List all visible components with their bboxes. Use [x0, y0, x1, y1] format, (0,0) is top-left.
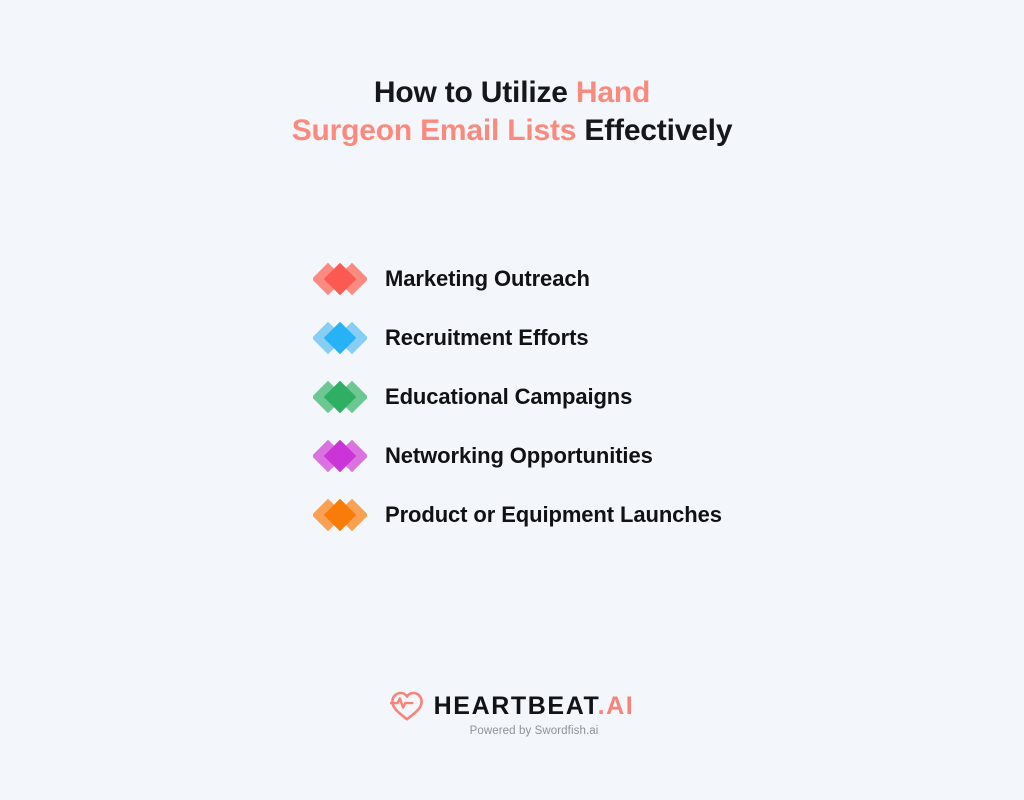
brand-name-suffix: .AI	[598, 692, 635, 720]
footer-branding: HEARTBEAT.AI Powered by Swordfish.ai	[0, 690, 1024, 737]
list-item-label: Product or Equipment Launches	[385, 501, 722, 529]
page-title-line-1: How to Utilize Hand	[0, 74, 1024, 112]
brand-name-main: HEARTBEAT	[434, 692, 598, 720]
list-item-label: Educational Campaigns	[385, 383, 632, 411]
diamond-cluster-icon-blue	[313, 317, 367, 359]
benefits-list: Marketing Outreach Recruitment Efforts E…	[313, 258, 722, 553]
diamond-cluster-icon-purple	[313, 435, 367, 477]
list-item: Educational Campaigns	[313, 376, 722, 418]
list-item: Recruitment Efforts	[313, 317, 722, 359]
list-item: Networking Opportunities	[313, 435, 722, 477]
page-title-line-2-plain: Effectively	[576, 114, 732, 147]
powered-by-text: Powered by Swordfish.ai	[470, 725, 599, 737]
list-item-label: Networking Opportunities	[385, 442, 653, 470]
diamond-cluster-icon-orange	[313, 494, 367, 536]
logo-row: HEARTBEAT.AI	[390, 690, 635, 722]
page-title-line-2: Surgeon Email Lists Effectively	[0, 112, 1024, 150]
heartbeat-pulse-icon	[390, 690, 434, 722]
diamond-cluster-icon-green	[313, 376, 367, 418]
list-item: Product or Equipment Launches	[313, 494, 722, 536]
list-item: Marketing Outreach	[313, 258, 722, 300]
brand-name: HEARTBEAT.AI	[434, 691, 635, 721]
page-title-line-1-accent: Hand	[576, 76, 650, 109]
list-item-label: Marketing Outreach	[385, 265, 590, 293]
page-title: How to Utilize Hand Surgeon Email Lists …	[0, 74, 1024, 150]
page-title-line-2-accent: Surgeon Email Lists	[292, 114, 577, 147]
list-item-label: Recruitment Efforts	[385, 324, 588, 352]
page-title-line-1-plain: How to Utilize	[374, 76, 576, 109]
diamond-cluster-icon-red	[313, 258, 367, 300]
